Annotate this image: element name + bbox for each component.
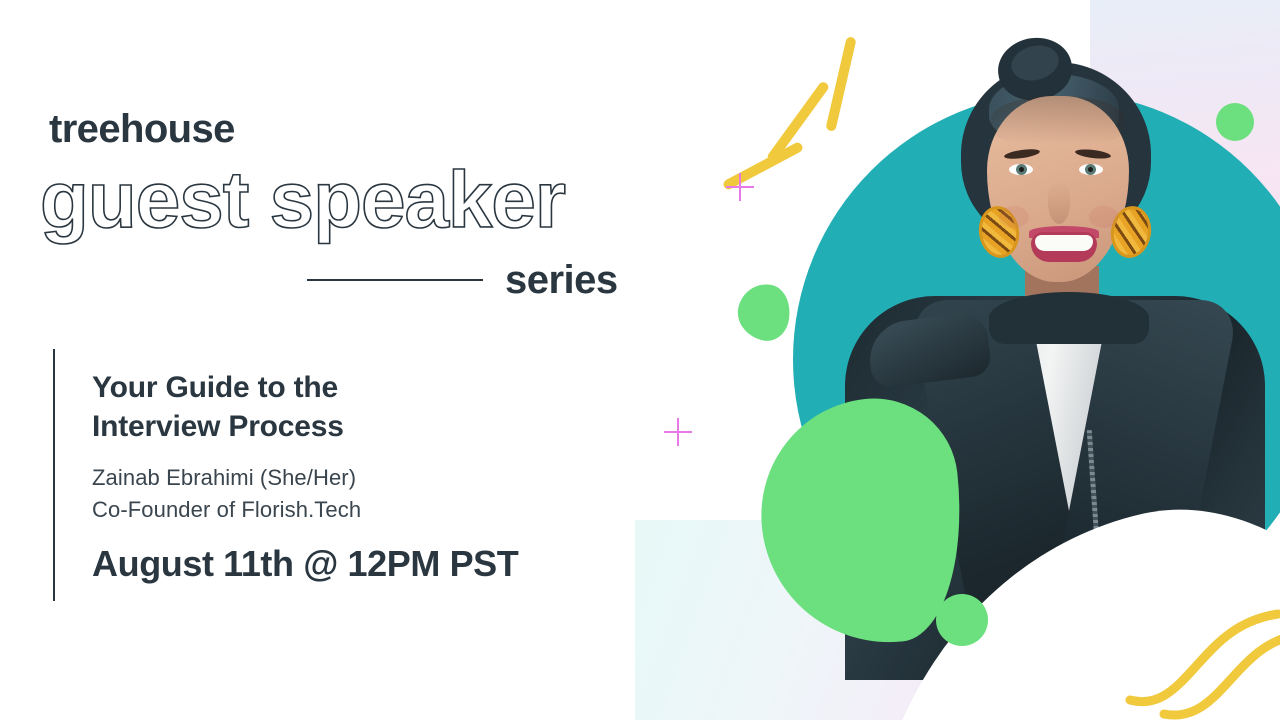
series-divider xyxy=(307,279,483,281)
pupil-left xyxy=(1019,167,1024,172)
pupil-right xyxy=(1088,167,1093,172)
mouth xyxy=(1031,232,1097,262)
speaker-name: Zainab Ebrahimi (She/Her) xyxy=(92,462,612,494)
series-label: series xyxy=(505,260,618,300)
speaker-role: Co-Founder of Florish.Tech xyxy=(92,494,612,526)
session-datetime: August 11th @ 12PM PST xyxy=(92,546,612,582)
headline-outline: guest speaker xyxy=(40,160,565,240)
slide-canvas: treehouse guest speaker series Your Guid… xyxy=(0,0,1280,720)
nose xyxy=(1048,182,1070,224)
teeth xyxy=(1035,235,1093,251)
series-row: series xyxy=(307,252,623,308)
jacket-collar xyxy=(989,292,1149,344)
green-dot xyxy=(936,594,988,646)
squiggle-icon xyxy=(1120,590,1280,720)
plus-icon xyxy=(664,418,692,446)
green-blob-small xyxy=(733,279,796,345)
info-accent-rule xyxy=(53,349,55,601)
session-title: Your Guide to the Interview Process xyxy=(92,368,612,446)
brand-wordmark: treehouse xyxy=(49,109,235,149)
session-info: Your Guide to the Interview Process Zain… xyxy=(92,368,612,582)
cheek-left xyxy=(999,206,1029,228)
plus-icon xyxy=(726,173,754,201)
forehead-shadow xyxy=(991,96,1125,144)
cheek-right xyxy=(1089,206,1119,228)
